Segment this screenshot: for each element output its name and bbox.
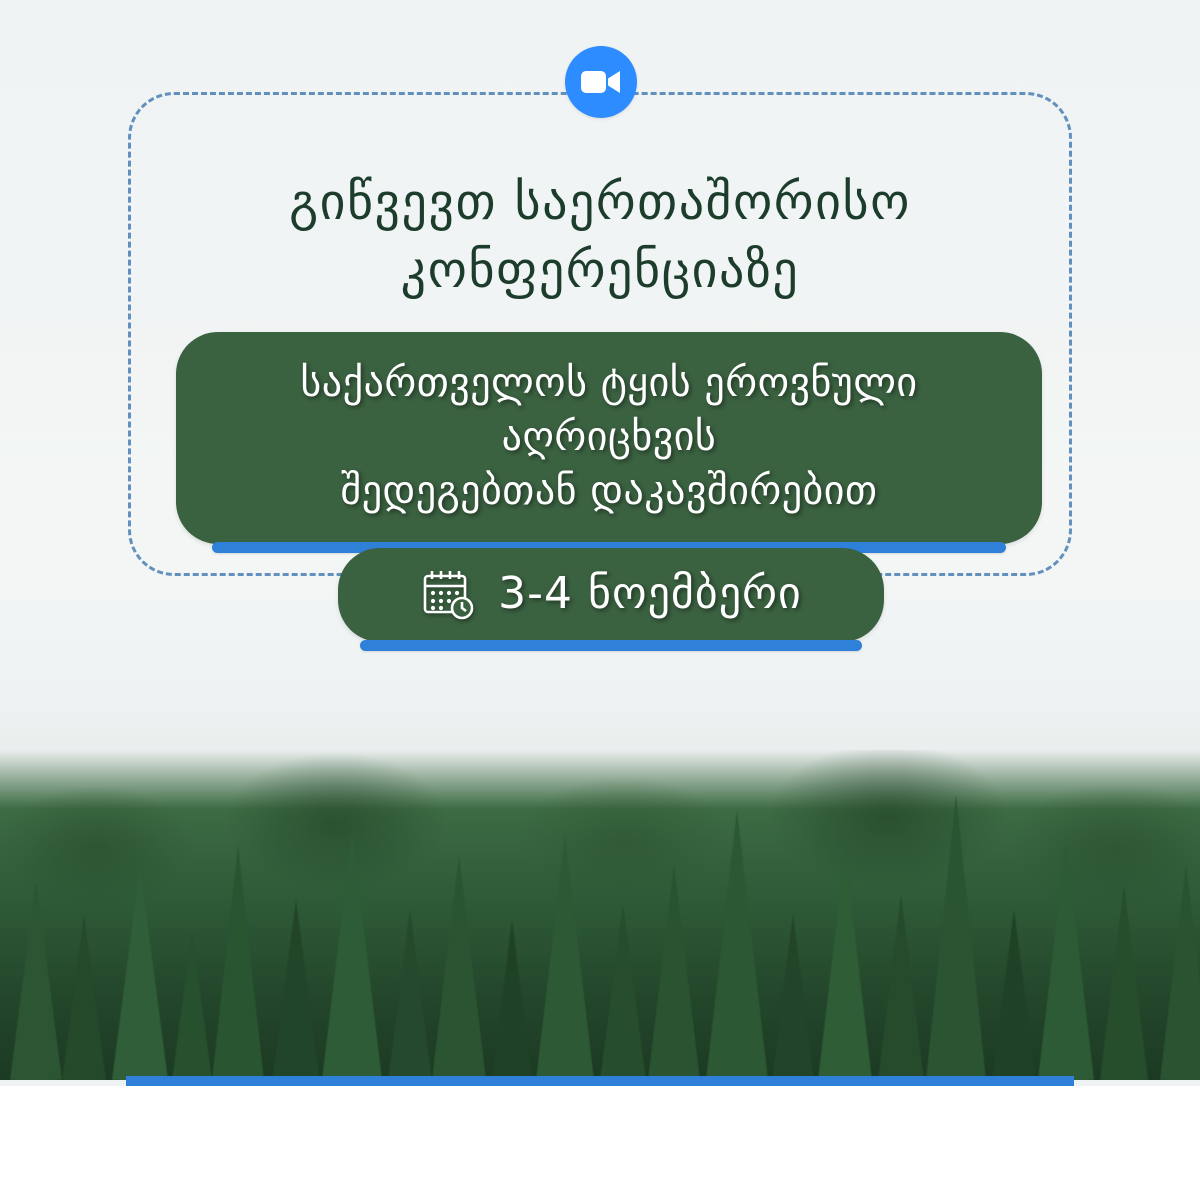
headline-line-2: კონფერენციაზე [0, 236, 1200, 304]
date-banner-wrap: 3-4 ნოემბერი [338, 548, 884, 642]
conifer-tree [536, 835, 594, 1080]
conifer-tree [992, 910, 1036, 1080]
date-underline [360, 640, 862, 651]
subtitle-banner-wrap: საქართველოს ტყის ეროვნული აღრიცხვის შედე… [176, 332, 1042, 544]
conifer-tree [10, 880, 62, 1080]
conifer-tree [322, 830, 382, 1080]
conifer-tree [818, 850, 872, 1080]
footer-logos: საქართველოს გარემოს დაცვისა და სოფლის მე… [0, 1086, 1200, 1200]
forest-photo [0, 600, 1200, 1080]
conifer-tree [492, 920, 532, 1080]
subtitle-banner: საქართველოს ტყის ეროვნული აღრიცხვის შედე… [176, 332, 1042, 544]
conifer-tree [926, 795, 986, 1080]
subtitle-line-1: საქართველოს ტყის ეროვნული აღრიცხვის [206, 356, 1012, 464]
conifer-tree [1160, 865, 1200, 1080]
conifer-tree [1100, 885, 1148, 1080]
conifer-tree [388, 910, 432, 1080]
subtitle-line-2: შედეგებთან დაკავშირებით [206, 464, 1012, 518]
headline-line-1: გიწვევთ საერთაშორისო [0, 168, 1200, 236]
conifer-tree [600, 905, 646, 1080]
conifer-tree [212, 845, 264, 1080]
date-banner: 3-4 ნოემბერი [338, 548, 884, 642]
conifer-tree [172, 930, 212, 1080]
conifer-tree [1038, 840, 1094, 1080]
conifer-tree [772, 915, 814, 1080]
footer-divider [126, 1076, 1074, 1086]
conifer-tree [112, 865, 168, 1080]
conifer-tree [432, 855, 486, 1080]
conference-invitation-poster: გიწვევთ საერთაშორისო კონფერენციაზე საქარ… [0, 0, 1200, 1200]
calendar-clock-icon [420, 566, 476, 622]
conifer-tree [62, 915, 106, 1080]
conifer-tree [706, 810, 768, 1080]
conifer-tree [648, 865, 700, 1080]
conifer-tree [878, 895, 924, 1080]
date-text: 3-4 ნოემბერი [498, 566, 802, 622]
page-title: გიწვევთ საერთაშორისო კონფერენციაზე [0, 168, 1200, 304]
conifer-tree [272, 900, 320, 1080]
video-camera-icon [565, 46, 637, 118]
